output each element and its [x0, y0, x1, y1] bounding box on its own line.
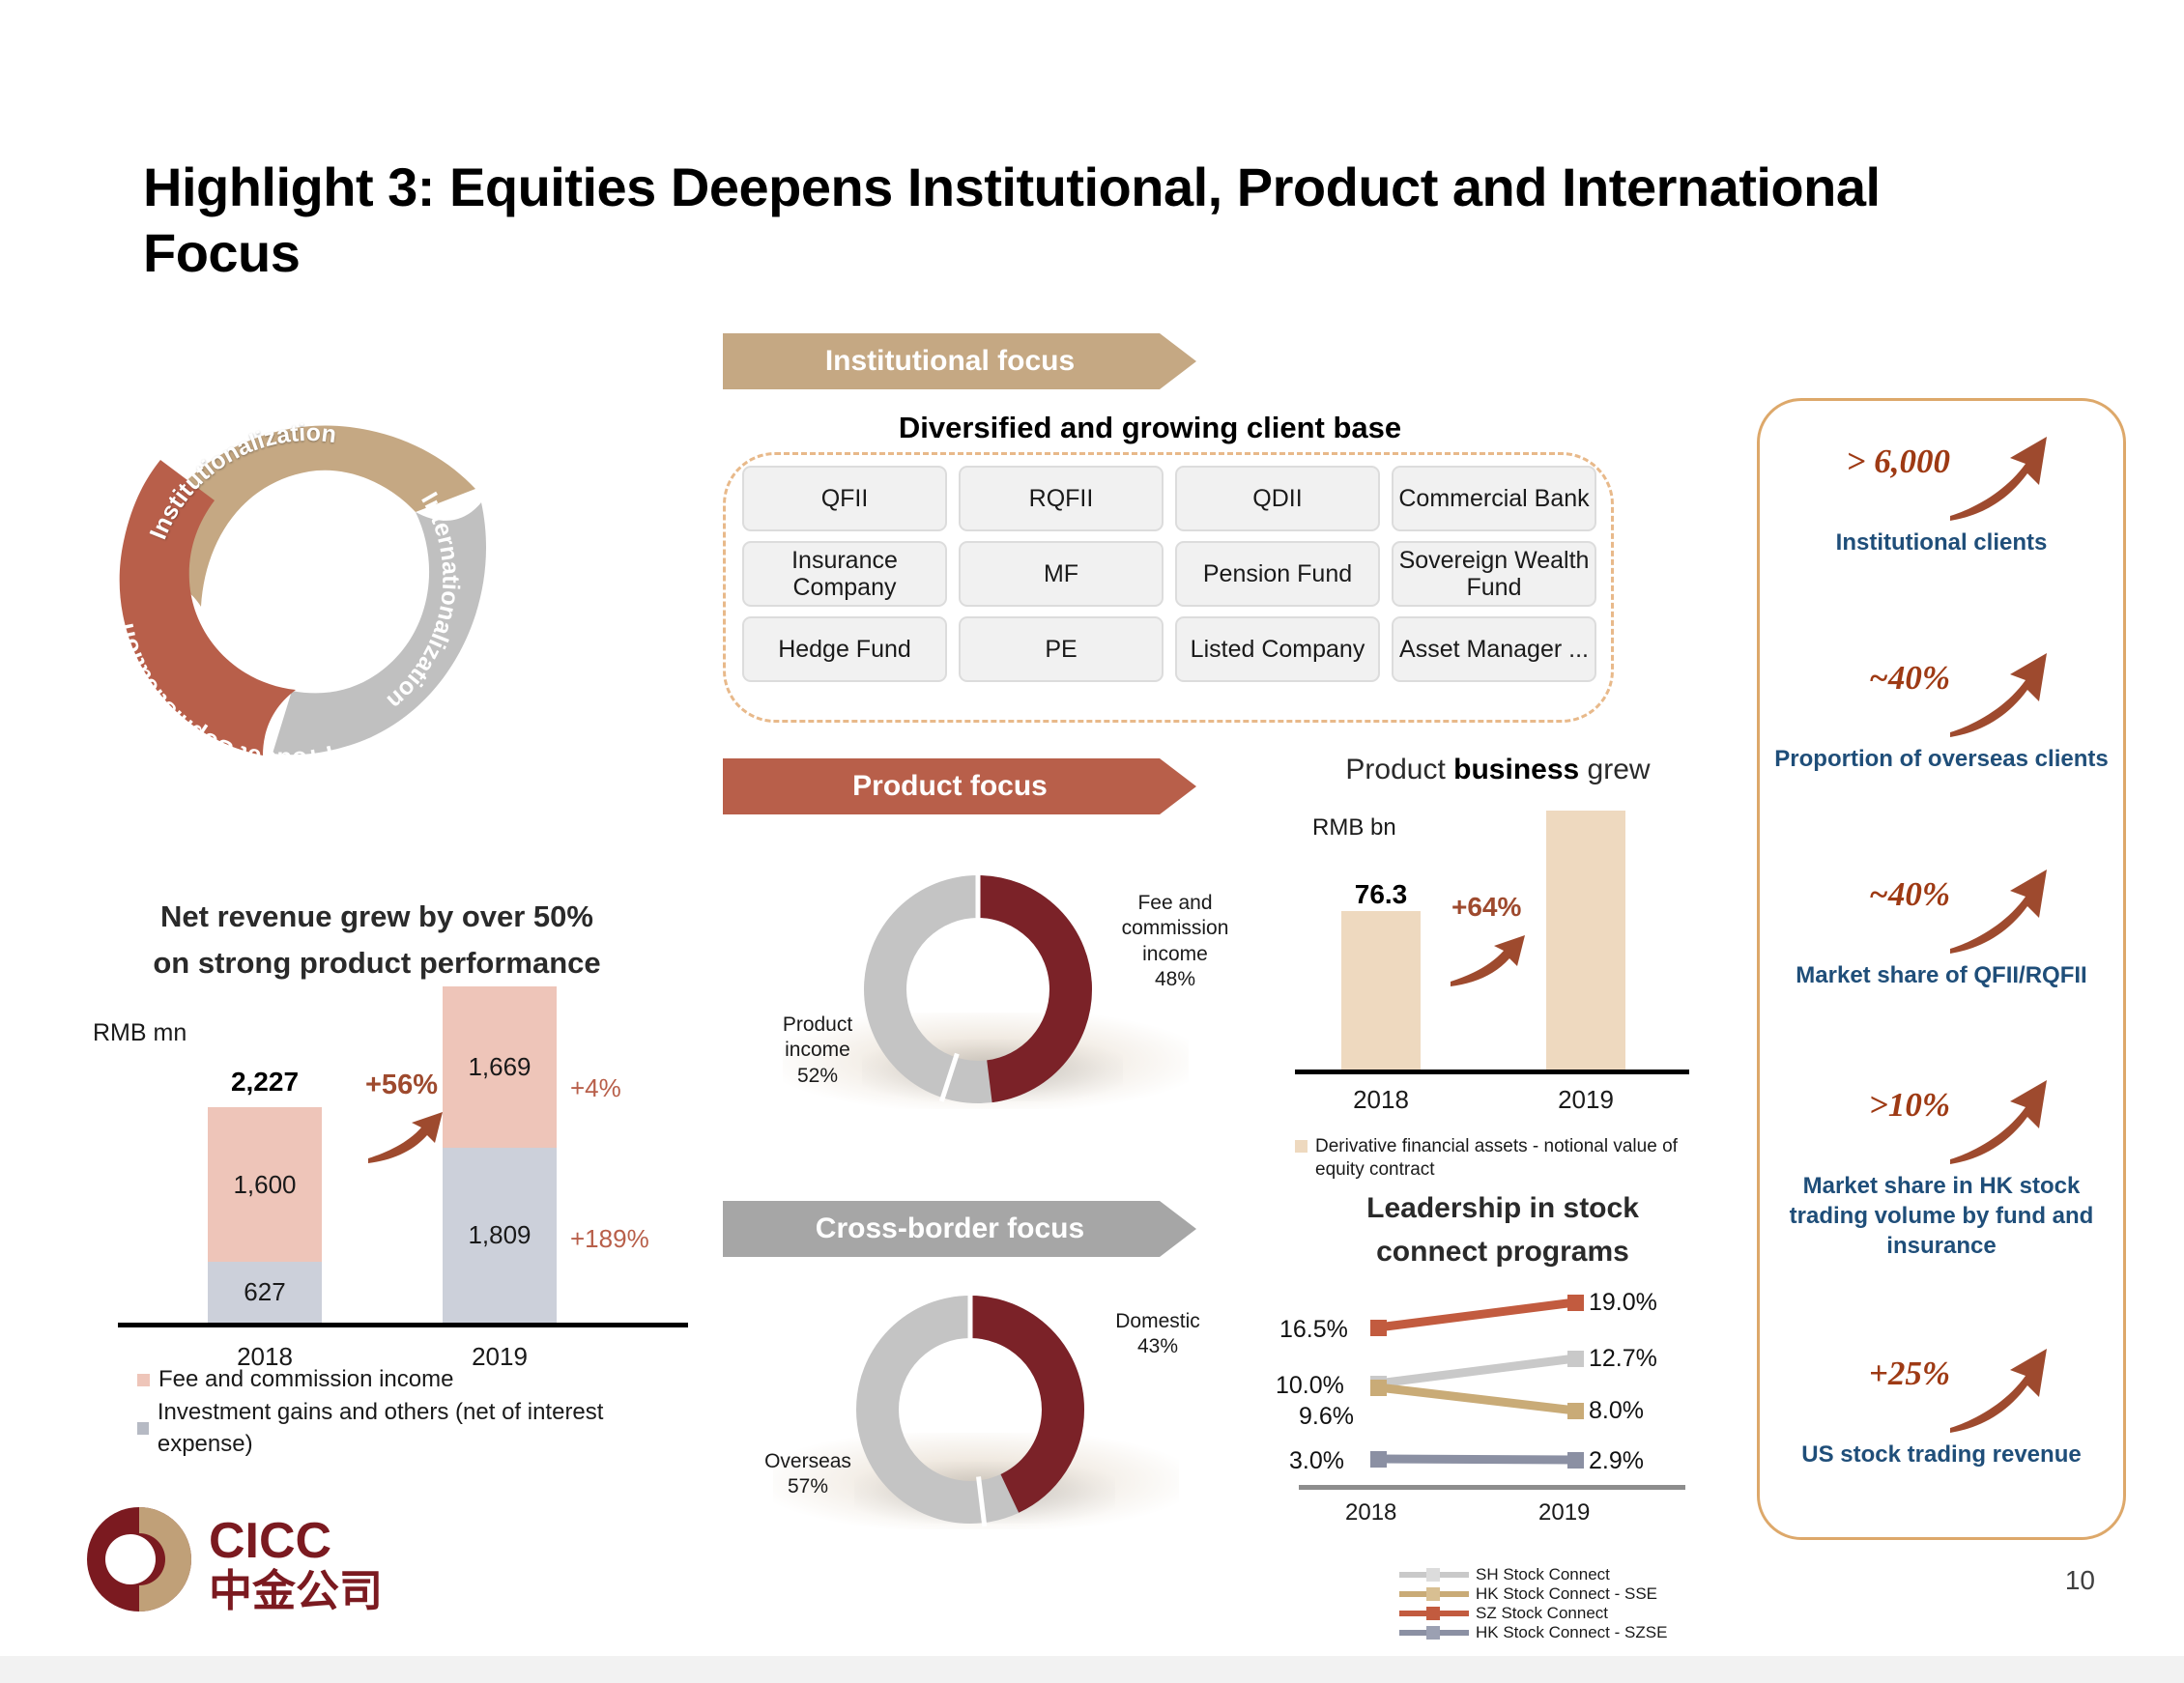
stock-connect-title-line2: connect programs	[1305, 1230, 1701, 1273]
sc-value-hkszse-2019: 2.9%	[1589, 1447, 1644, 1475]
highlight-value-4: +25%	[1776, 1355, 1950, 1393]
series-hk-stock-connect-szse	[1370, 1451, 1584, 1469]
revenue-mix-donut-chart: Fee and commission income 48% Product in…	[812, 870, 1353, 1159]
highlight-value-1: ~40%	[1776, 659, 1950, 698]
sc-value-sh-2018: 10.0%	[1276, 1372, 1344, 1400]
highlight-caption-0: Institutional clients	[1765, 528, 2118, 557]
highlight-caption-1: Proportion of overseas clients	[1765, 744, 2118, 774]
stock-connect-line-chart: 16.5% 19.0% 10.0% 12.7% 9.6% 8.0% 3.0% 2…	[1285, 1275, 1701, 1546]
client-type-qfii[interactable]: QFII	[742, 466, 947, 531]
sc-value-hkszse-2018: 3.0%	[1289, 1447, 1344, 1475]
product-business-xtick-2019: 2019	[1533, 1085, 1639, 1115]
net-revenue-x-axis	[118, 1323, 688, 1327]
product-business-chart-title: Product business grew	[1305, 754, 1691, 786]
revenue-mix-value-product: 52%	[762, 1064, 874, 1089]
client-base-grid: QFII RQFII QDII Commercial Bank Insuranc…	[742, 466, 1596, 682]
highlight-overseas-clients: ~40% Proportion of overseas clients	[1757, 653, 2126, 746]
cicc-logo-mark-icon	[87, 1507, 191, 1612]
client-type-insurance-company[interactable]: Insurance Company	[742, 541, 947, 607]
banner-institutional-focus-label: Institutional focus	[825, 345, 1075, 378]
highlight-caption-2: Market share of QFII/RQFII	[1765, 960, 2118, 990]
growth-arrow-icon-6	[1946, 1074, 2053, 1167]
product-business-bar-chart: 76.3 2018 125.0 2019 +64%	[1285, 802, 1701, 1130]
client-type-listed-company[interactable]: Listed Company	[1175, 616, 1380, 682]
highlight-caption-3: Market share in HK stock trading volume …	[1765, 1171, 2118, 1262]
highlight-caption-4: US stock trading revenue	[1765, 1440, 2118, 1469]
growth-arrow-icon-2	[1448, 927, 1531, 987]
sc-value-sz-2018: 16.5%	[1279, 1316, 1348, 1344]
banner-cross-border-focus-label: Cross-border focus	[816, 1212, 1084, 1245]
stock-connect-legend: SH Stock Connect HK Stock Connect - SSE …	[1399, 1565, 1667, 1642]
sc-value-hksse-2018: 9.6%	[1299, 1403, 1354, 1431]
product-business-bar-2019	[1546, 811, 1625, 1070]
net-revenue-legend: Fee and commission income Investment gai…	[137, 1363, 657, 1461]
client-base-heading: Diversified and growing client base	[715, 411, 1585, 445]
pbg-title-pre: Product	[1345, 754, 1453, 785]
net-revenue-bar-2018: 1,600 627	[208, 1107, 322, 1323]
growth-arrow-icon-4	[1946, 647, 2053, 740]
legend-item-investment: Investment gains and others (net of inte…	[137, 1396, 657, 1461]
legend-item-fee: Fee and commission income	[137, 1363, 657, 1396]
footer-strip	[0, 1656, 2184, 1683]
revenue-mix-label-product: Product income 52%	[762, 1013, 874, 1089]
client-type-mf[interactable]: MF	[959, 541, 1164, 607]
net-revenue-stacked-bar-chart: 2,227 1,600 627 2018 3,478 1,669 1,809 2…	[58, 995, 657, 1401]
cicc-logo-latin-text: CICC	[209, 1513, 331, 1569]
growth-arrow-icon-5	[1946, 864, 2053, 956]
highlight-value-0: > 6,000	[1776, 442, 1950, 481]
cross-border-label-overseas-text: Overseas	[748, 1449, 868, 1474]
sc-legend-label-hkszse: HK Stock Connect - SZSE	[1476, 1622, 1667, 1644]
net-revenue-seg-investment-2018: 627	[208, 1262, 322, 1323]
banner-institutional-focus: Institutional focus	[723, 333, 1196, 389]
virtuous-cycle-diagram: Institutionalization Internationalizatio…	[97, 357, 512, 763]
highlight-qfii-rqfii-share: ~40% Market share of QFII/RQFII	[1757, 870, 2126, 962]
legend-label-investment: Investment gains and others (net of inte…	[158, 1396, 657, 1461]
product-business-growth-badge: +64%	[1451, 892, 1521, 923]
banner-product-focus-label: Product focus	[852, 770, 1048, 803]
series-hk-stock-connect-sse	[1370, 1380, 1584, 1419]
series-sz-stock-connect	[1370, 1295, 1584, 1336]
cross-border-value-domestic: 43%	[1090, 1334, 1225, 1359]
revenue-mix-label-product-text: Product income	[762, 1013, 874, 1064]
net-revenue-chart-title: Net revenue grew by over 50% on strong p…	[106, 894, 647, 986]
product-business-x-axis	[1295, 1070, 1689, 1074]
legend-swatch-derivative-icon	[1295, 1140, 1308, 1153]
sc-legend-item-hkszse: HK Stock Connect - SZSE	[1399, 1623, 1667, 1642]
cross-border-label-domestic-text: Domestic	[1090, 1309, 1225, 1334]
client-type-hedge-fund[interactable]: Hedge Fund	[742, 616, 947, 682]
revenue-mix-label-fee: Fee and commission income 48%	[1098, 891, 1252, 992]
sc-legend-marker-hksse-icon	[1399, 1591, 1469, 1597]
banner-product-focus: Product focus	[723, 758, 1196, 814]
net-revenue-title-line2: on strong product performance	[106, 940, 647, 986]
cicc-logo: CICC 中金公司	[85, 1505, 404, 1613]
stock-connect-xtick-2018: 2018	[1345, 1499, 1396, 1526]
legend-label-fee: Fee and commission income	[158, 1363, 453, 1396]
product-business-legend-label: Derivative financial assets - notional v…	[1315, 1135, 1691, 1183]
stock-connect-x-axis	[1299, 1485, 1685, 1490]
net-revenue-total-2018: 2,227	[208, 1067, 322, 1098]
pbg-title-post: grew	[1579, 754, 1650, 785]
highlight-institutional-clients: > 6,000 Institutional clients	[1757, 437, 2126, 529]
legend-swatch-fee-icon	[137, 1374, 150, 1386]
client-type-sovereign-wealth-fund[interactable]: Sovereign Wealth Fund	[1392, 541, 1596, 607]
page-title: Highlight 3: Equities Deepens Institutio…	[143, 155, 1979, 287]
client-type-pension-fund[interactable]: Pension Fund	[1175, 541, 1380, 607]
sc-legend-item-sz: SZ Stock Connect	[1399, 1604, 1667, 1623]
sc-legend-marker-sz-icon	[1399, 1611, 1469, 1616]
client-type-commercial-bank[interactable]: Commercial Bank	[1392, 466, 1596, 531]
stock-connect-chart-title: Leadership in stock connect programs	[1305, 1186, 1701, 1273]
client-type-rqfii[interactable]: RQFII	[959, 466, 1164, 531]
growth-arrow-icon-7	[1946, 1343, 2053, 1436]
revenue-mix-value-fee: 48%	[1098, 967, 1252, 992]
stock-connect-title-line1: Leadership in stock	[1305, 1186, 1701, 1230]
highlight-value-3: >10%	[1776, 1086, 1950, 1125]
revenue-mix-label-fee-text: Fee and commission income	[1098, 891, 1252, 967]
net-revenue-bar-2019: 1,669 1,809	[443, 986, 557, 1323]
net-revenue-delta-fee: +4%	[570, 1073, 621, 1103]
product-business-xtick-2018: 2018	[1328, 1085, 1434, 1115]
slide-root: Highlight 3: Equities Deepens Institutio…	[0, 0, 2184, 1683]
legend-swatch-investment-icon	[137, 1422, 149, 1435]
sc-legend-item-hksse: HK Stock Connect - SSE	[1399, 1584, 1667, 1604]
sc-value-sh-2019: 12.7%	[1589, 1345, 1657, 1373]
highlight-hk-trading-share: >10% Market share in HK stock trading vo…	[1757, 1080, 2126, 1173]
net-revenue-delta-investment: +189%	[570, 1224, 649, 1254]
cycle-segment-product-sophistication	[120, 460, 296, 756]
net-revenue-growth-badge: +56%	[365, 1070, 438, 1101]
growth-arrow-icon-3	[1946, 431, 2053, 524]
highlight-value-2: ~40%	[1776, 875, 1950, 914]
sc-value-sz-2019: 19.0%	[1589, 1289, 1657, 1317]
sc-legend-item-sh: SH Stock Connect	[1399, 1565, 1667, 1584]
highlight-us-stock-revenue: +25% US stock trading revenue	[1757, 1349, 2126, 1441]
sc-value-hksse-2019: 8.0%	[1589, 1397, 1644, 1425]
net-revenue-title-line1: Net revenue grew by over 50%	[106, 894, 647, 940]
cross-border-donut-chart: Domestic 43% Overseas 57%	[812, 1290, 1353, 1580]
banner-cross-border-focus: Cross-border focus	[723, 1201, 1196, 1257]
cicc-logo-chinese-text: 中金公司	[209, 1565, 383, 1616]
product-business-value-2018: 76.3	[1328, 879, 1434, 910]
sc-legend-marker-hkszse-icon	[1399, 1630, 1469, 1636]
net-revenue-seg-fee-2019: 1,669	[443, 986, 557, 1148]
page-number: 10	[2065, 1565, 2095, 1596]
product-business-legend: Derivative financial assets - notional v…	[1295, 1135, 1691, 1183]
net-revenue-seg-fee-2018: 1,600	[208, 1107, 322, 1262]
product-business-bar-2018	[1341, 911, 1421, 1070]
pbg-title-bold: business	[1453, 754, 1579, 785]
cross-border-label-domestic: Domestic 43%	[1090, 1309, 1225, 1360]
client-type-asset-manager[interactable]: Asset Manager ...	[1392, 616, 1596, 682]
net-revenue-seg-investment-2019: 1,809	[443, 1148, 557, 1323]
growth-arrow-icon	[365, 1104, 448, 1164]
client-type-pe[interactable]: PE	[959, 616, 1164, 682]
sc-legend-marker-sh-icon	[1399, 1572, 1469, 1578]
client-type-qdii[interactable]: QDII	[1175, 466, 1380, 531]
cross-border-value-overseas: 57%	[748, 1474, 868, 1499]
stock-connect-xtick-2019: 2019	[1538, 1499, 1590, 1526]
cross-border-label-overseas: Overseas 57%	[748, 1449, 868, 1500]
